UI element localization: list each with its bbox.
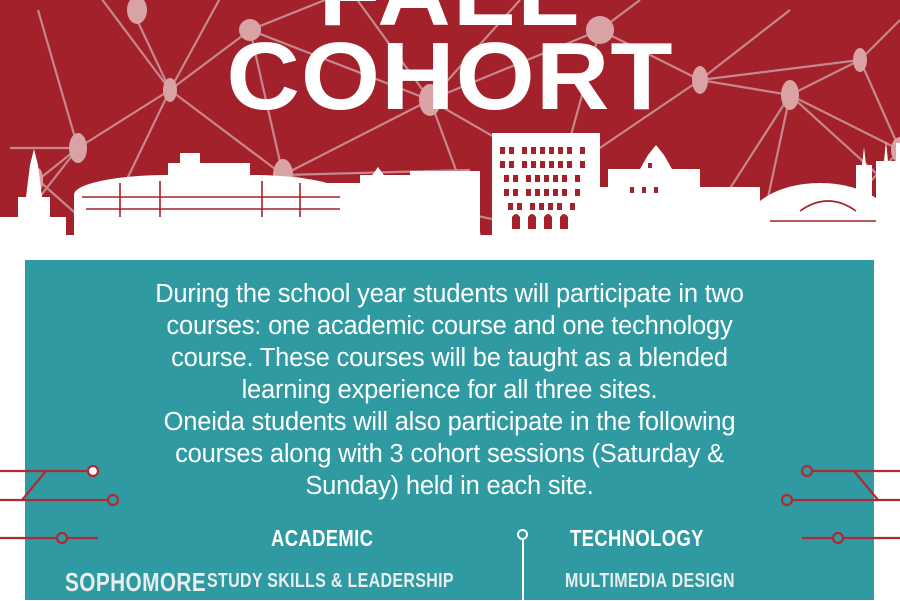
panel-paragraph: During the school year students will par… [25, 278, 874, 502]
vertical-divider-line [522, 535, 524, 601]
paragraph-line: Oneida students will also participate in… [65, 406, 834, 438]
grade-label-sophomore: SOPHOMORE [65, 567, 206, 598]
paragraph-line: courses along with 3 cohort sessions (Sa… [65, 438, 834, 470]
info-panel: During the school year students will par… [25, 260, 874, 600]
course-columns: ACADEMIC TECHNOLOGY SOPHOMORE STUDY SKIL… [25, 525, 874, 600]
academic-course-sophomore: STUDY SKILLS & LEADERSHIP [207, 570, 454, 593]
paragraph-line: learning experience for all three sites. [65, 374, 834, 406]
column-header-technology: TECHNOLOGY [570, 525, 704, 552]
paragraph-line: courses: one academic course and one tec… [65, 310, 834, 342]
technology-course-sophomore: MULTIMEDIA DESIGN [565, 570, 735, 593]
paragraph-line: course. These courses will be taught as … [65, 342, 834, 374]
city-skyline-silhouette [0, 125, 900, 235]
paragraph-line: During the school year students will par… [65, 278, 834, 310]
header-banner: FALL COHORT [0, 0, 900, 235]
divider-node-circle [517, 529, 528, 540]
column-header-academic: ACADEMIC [271, 525, 373, 552]
paragraph-line: Sunday) held in each site. [65, 470, 834, 502]
